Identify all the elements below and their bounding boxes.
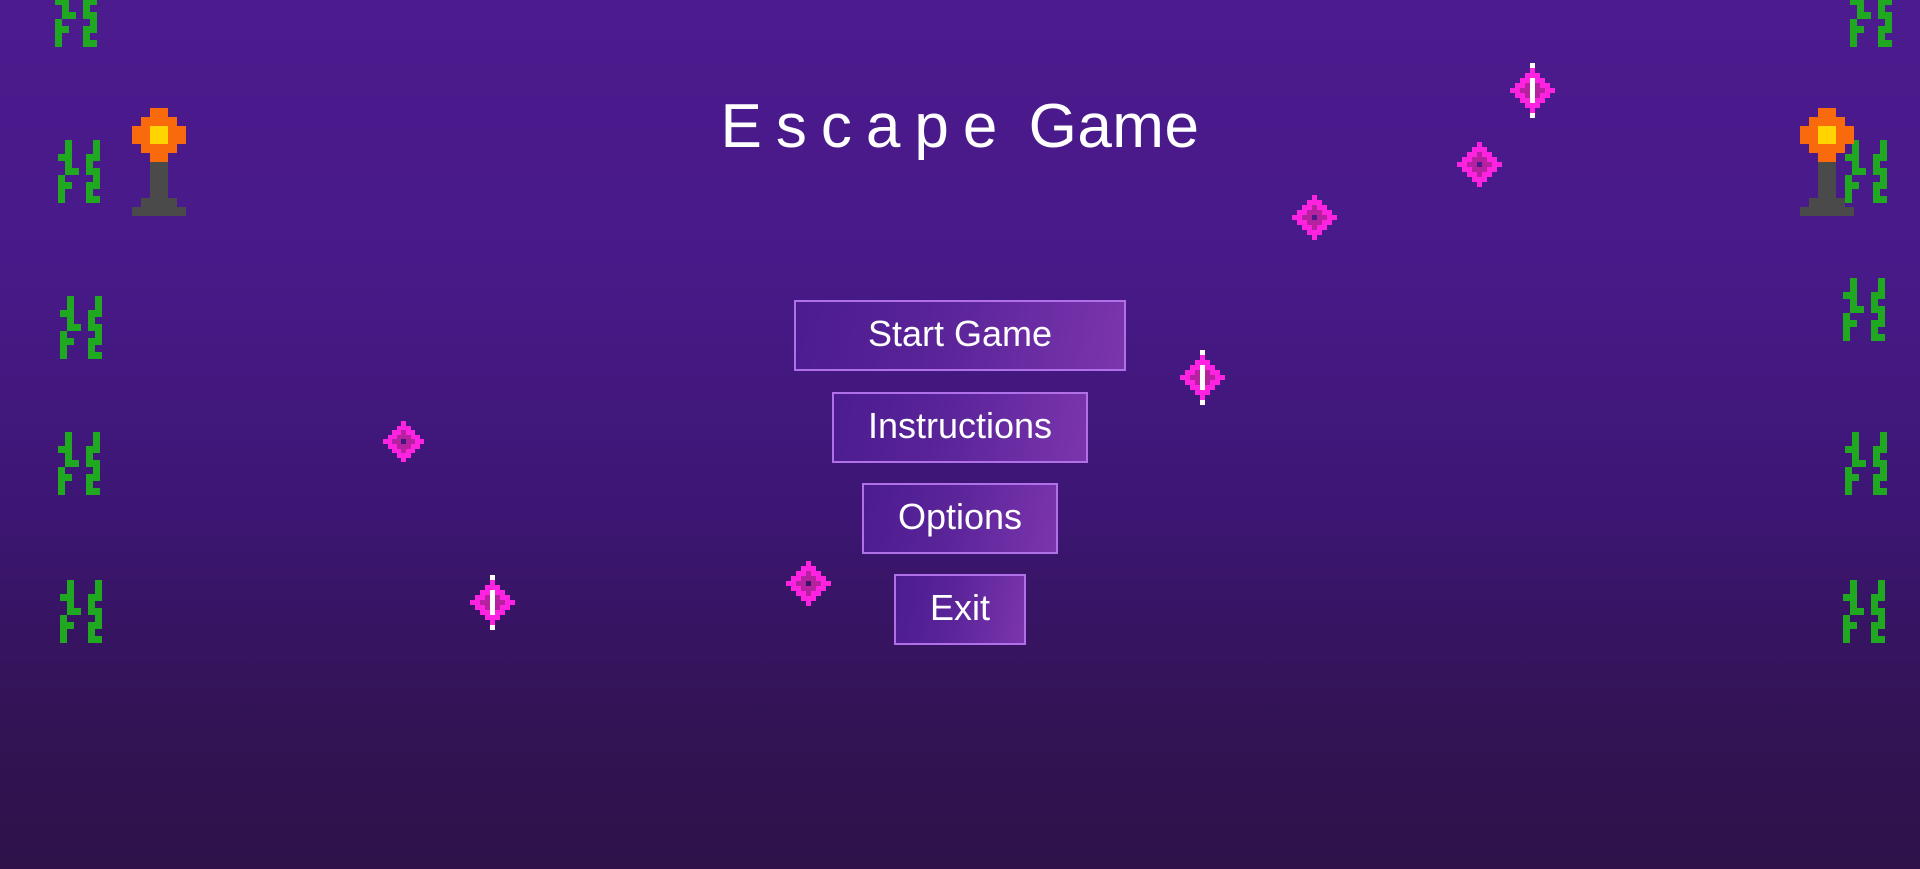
plant-sprite — [1850, 0, 1899, 47]
gem-particle-sprite — [1457, 142, 1502, 187]
game-screen: Escape Game Start Game Instructions Opti… — [0, 0, 1920, 869]
instructions-button[interactable]: Instructions — [832, 392, 1088, 463]
start-game-button[interactable]: Start Game — [794, 300, 1126, 371]
main-menu: Start Game Instructions Options Exit — [0, 300, 1920, 645]
title-container: Escape Game — [0, 96, 1920, 158]
plant-sprite — [58, 140, 107, 203]
title-part-game: Game — [1029, 92, 1200, 161]
gem-particle-sprite — [1292, 195, 1337, 240]
title-space — [1011, 92, 1028, 161]
particle-highlight — [1530, 78, 1535, 103]
gem-particle-sprite — [1510, 68, 1555, 113]
torch-sprite — [1800, 108, 1854, 216]
plant-sprite — [55, 0, 104, 47]
title-part-escape: Escape — [721, 92, 1012, 161]
options-button[interactable]: Options — [862, 483, 1058, 554]
page-title: Escape Game — [721, 96, 1200, 158]
exit-button[interactable]: Exit — [894, 574, 1026, 645]
torch-sprite — [132, 108, 186, 216]
